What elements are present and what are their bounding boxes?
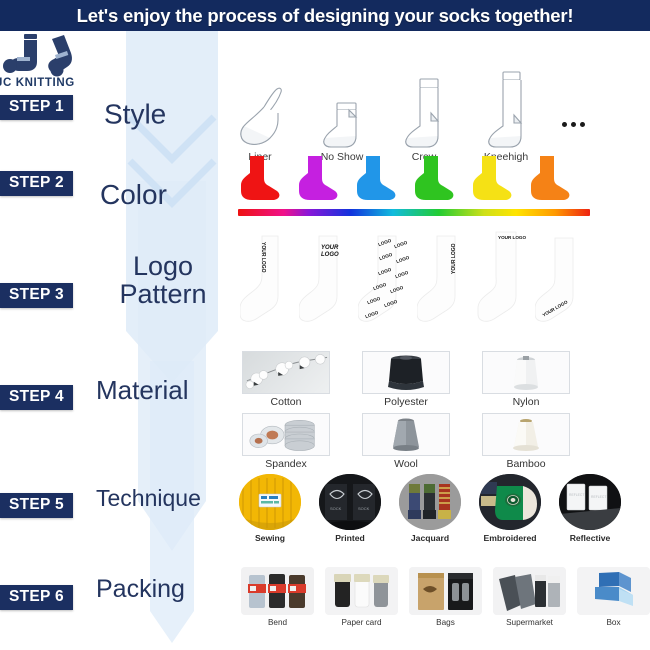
logo-text: LOGO (367, 296, 381, 305)
box-icon (577, 567, 650, 615)
technique-item-printed: SOCKSOCK Printed (319, 474, 381, 543)
header-banner: Let's enjoy the process of designing you… (0, 0, 650, 31)
logo-pattern-items: YOUR LOGO YOUR LOGO LOGO LOGO LOGO LOGO … (240, 228, 591, 340)
yarn-cone-icon (501, 415, 551, 455)
embroidered-sock-thumb (479, 474, 541, 530)
step-title-logo-line1: Logo (98, 253, 228, 281)
packing-item-bend: Bend (241, 567, 314, 627)
logo-sock-vertical-cuff: YOUR LOGO (240, 228, 296, 340)
logo-text: LOGO (396, 255, 410, 264)
brand-logo: JC KNITTING (0, 33, 92, 95)
white-sock-shape (417, 228, 473, 340)
infographic-page: Let's enjoy the process of designing you… (0, 0, 650, 650)
step-title-logo-line2: Pattern (98, 281, 228, 309)
paper-card-icon (325, 567, 398, 615)
bags-thumb (409, 567, 482, 615)
material-item-cotton: Cotton (242, 351, 330, 408)
wool-cone-thumb (362, 413, 450, 456)
color-rainbow-bar (238, 209, 590, 216)
technique-item-sewing: Sewing (239, 474, 301, 543)
bamboo-cone-thumb (482, 413, 570, 456)
material-item-wool: Wool (362, 413, 450, 470)
technique-item-embroidered: Embroidered (479, 474, 541, 543)
packing-label-supermarket: Supermarket (506, 618, 553, 627)
packing-label-bend: Bend (268, 618, 287, 627)
yarn-cone-icon (501, 353, 551, 393)
logo-repeat-group: LOGO LOGO LOGO LOGO LOGO LOGO LOGO LOGO … (358, 228, 414, 340)
logo-text: YOUR LOGO (260, 242, 266, 273)
step-badge-4: STEP 4 (0, 385, 73, 410)
logo-text: LOGO (365, 310, 379, 319)
logo-text: LOGO (373, 282, 387, 291)
bags-icon (409, 567, 482, 615)
technique-label-reflective: Reflective (570, 533, 611, 543)
svg-text:REFLECT: REFLECT (591, 495, 606, 499)
step-title-packing: Packing (96, 577, 185, 603)
paper-card-thumb (325, 567, 398, 615)
box-thumb (577, 567, 650, 615)
color-sock-green (412, 155, 456, 203)
reflective-strips-icon: REFLECTREFLECT (559, 474, 621, 530)
knit-label-icon (239, 474, 301, 530)
material-label-polyester: Polyester (384, 396, 428, 408)
color-items (238, 155, 572, 203)
material-label-spandex: Spandex (265, 458, 306, 470)
logo-sock-side-vertical: YOUR LOGO (417, 228, 473, 340)
supermarket-hanger-thumb (493, 567, 566, 615)
white-sock-shape (535, 228, 591, 340)
reflective-strips-thumb: REFLECTREFLECT (559, 474, 621, 530)
technique-item-reflective: REFLECTREFLECT Reflective (559, 474, 621, 543)
logo-sock-front-cuff: YOUR LOGO (299, 228, 355, 340)
sock-crew-icon (398, 71, 450, 149)
cotton-boll-icon (243, 351, 329, 394)
technique-label-jacquard: Jacquard (411, 533, 449, 543)
step-badge-2: STEP 2 (0, 171, 73, 196)
svg-text:REFLECT: REFLECT (569, 493, 584, 497)
embroidered-sock-icon (479, 474, 541, 530)
logo-text: LOGO (379, 252, 393, 261)
logo-sock-top-cuff: YOUR LOGO (476, 228, 532, 340)
row-material: STEP 4 Material (0, 343, 650, 471)
sock-liner-icon (234, 71, 286, 149)
packing-items: Bend Pap (241, 567, 650, 627)
material-items-row1: Cotton Polyester (242, 351, 570, 408)
logo-sock-allover-repeat: LOGO LOGO LOGO LOGO LOGO LOGO LOGO LOGO … (358, 228, 414, 340)
technique-label-sewing: Sewing (255, 533, 285, 543)
step-badge-5: STEP 5 (0, 493, 73, 518)
packing-item-supermarket: Supermarket (493, 567, 566, 627)
color-sock-red (238, 155, 282, 203)
logo-text: LOGO (378, 267, 392, 276)
svg-text:SOCK: SOCK (330, 506, 342, 511)
logo-text: LOGO (394, 240, 408, 249)
logo-text: LOGO (378, 238, 392, 247)
material-item-spandex: Spandex (242, 413, 330, 470)
color-sock-magenta (296, 155, 340, 203)
packing-item-box: Box (577, 567, 650, 627)
logo-text: LOGO (395, 270, 409, 279)
step-title-color: Color (100, 181, 167, 210)
printed-socks-thumb: SOCKSOCK (319, 474, 381, 530)
color-sock-orange (528, 155, 572, 203)
step-title-material: Material (96, 377, 188, 404)
spandex-reel-icon (243, 413, 329, 456)
jacquard-socks-icon (399, 474, 461, 530)
logo-sock-foot-side: YOUR LOGO (535, 228, 591, 340)
logo-text: LOGO (384, 299, 398, 308)
socks-jc-logo-icon (0, 33, 92, 79)
material-items-row2: Spandex Wool (242, 413, 570, 470)
packing-item-bags: Bags (409, 567, 482, 627)
sock-noshow-icon (316, 71, 368, 149)
material-item-nylon: Nylon (482, 351, 570, 408)
row-technique: STEP 5 Technique (0, 471, 650, 561)
technique-label-printed: Printed (335, 533, 365, 543)
material-label-bamboo: Bamboo (506, 458, 545, 470)
yarn-cone-icon (378, 353, 434, 393)
svg-text:SOCK: SOCK (358, 506, 370, 511)
bend-bundle-icon (241, 567, 314, 615)
technique-item-jacquard: Jacquard (399, 474, 461, 543)
supermarket-hanger-icon (493, 567, 566, 615)
jacquard-socks-thumb (399, 474, 461, 530)
logo-text: YOUR LOGO (498, 235, 526, 240)
technique-items: Sewing SOCKSOCK (239, 474, 621, 543)
sock-kneehigh-icon (480, 71, 532, 149)
bend-bundle-thumb (241, 567, 314, 615)
logo-text: YOUR LOGO (451, 243, 457, 274)
spandex-reels-thumb (242, 413, 330, 456)
step-badge-1: STEP 1 (0, 95, 73, 120)
step-badge-3: STEP 3 (0, 283, 73, 308)
white-sock-shape (476, 228, 532, 340)
material-item-bamboo: Bamboo (482, 413, 570, 470)
cotton-bolls-thumb (242, 351, 330, 394)
packing-label-bags: Bags (436, 618, 455, 627)
yarn-cone-icon (381, 415, 431, 455)
material-label-cotton: Cotton (271, 396, 302, 408)
header-title: Let's enjoy the process of designing you… (77, 5, 574, 27)
packing-label-box: Box (606, 618, 620, 627)
material-label-nylon: Nylon (513, 396, 540, 408)
color-sock-yellow (470, 155, 514, 203)
nylon-cone-thumb (482, 351, 570, 394)
material-label-wool: Wool (394, 458, 418, 470)
white-sock-shape (240, 228, 296, 340)
step-title-style: Style (104, 101, 166, 130)
sewing-label-thumb (239, 474, 301, 530)
logo-text: YOUR LOGO (321, 245, 339, 259)
logo-text: LOGO (390, 285, 404, 294)
step-badge-6: STEP 6 (0, 585, 73, 610)
polyester-cone-thumb (362, 351, 450, 394)
packing-label-paper-card: Paper card (341, 618, 381, 627)
brand-name: JC KNITTING (0, 77, 75, 89)
step-title-logo-pattern: Logo Pattern (98, 253, 228, 308)
row-logo-pattern: STEP 3 Logo Pattern YOUR LOGO YOUR LOGO (0, 225, 650, 343)
material-item-polyester: Polyester (362, 351, 450, 408)
color-sock-blue (354, 155, 398, 203)
step-title-technique: Technique (96, 487, 201, 510)
row-style: STEP 1 Style Liner (0, 31, 650, 147)
printed-socks-icon: SOCKSOCK (319, 474, 381, 530)
row-color: STEP 2 Color (0, 147, 650, 225)
row-packing: STEP 6 Packing (0, 561, 650, 650)
technique-label-embroidered: Embroidered (483, 533, 536, 543)
packing-item-paper-card: Paper card (325, 567, 398, 627)
